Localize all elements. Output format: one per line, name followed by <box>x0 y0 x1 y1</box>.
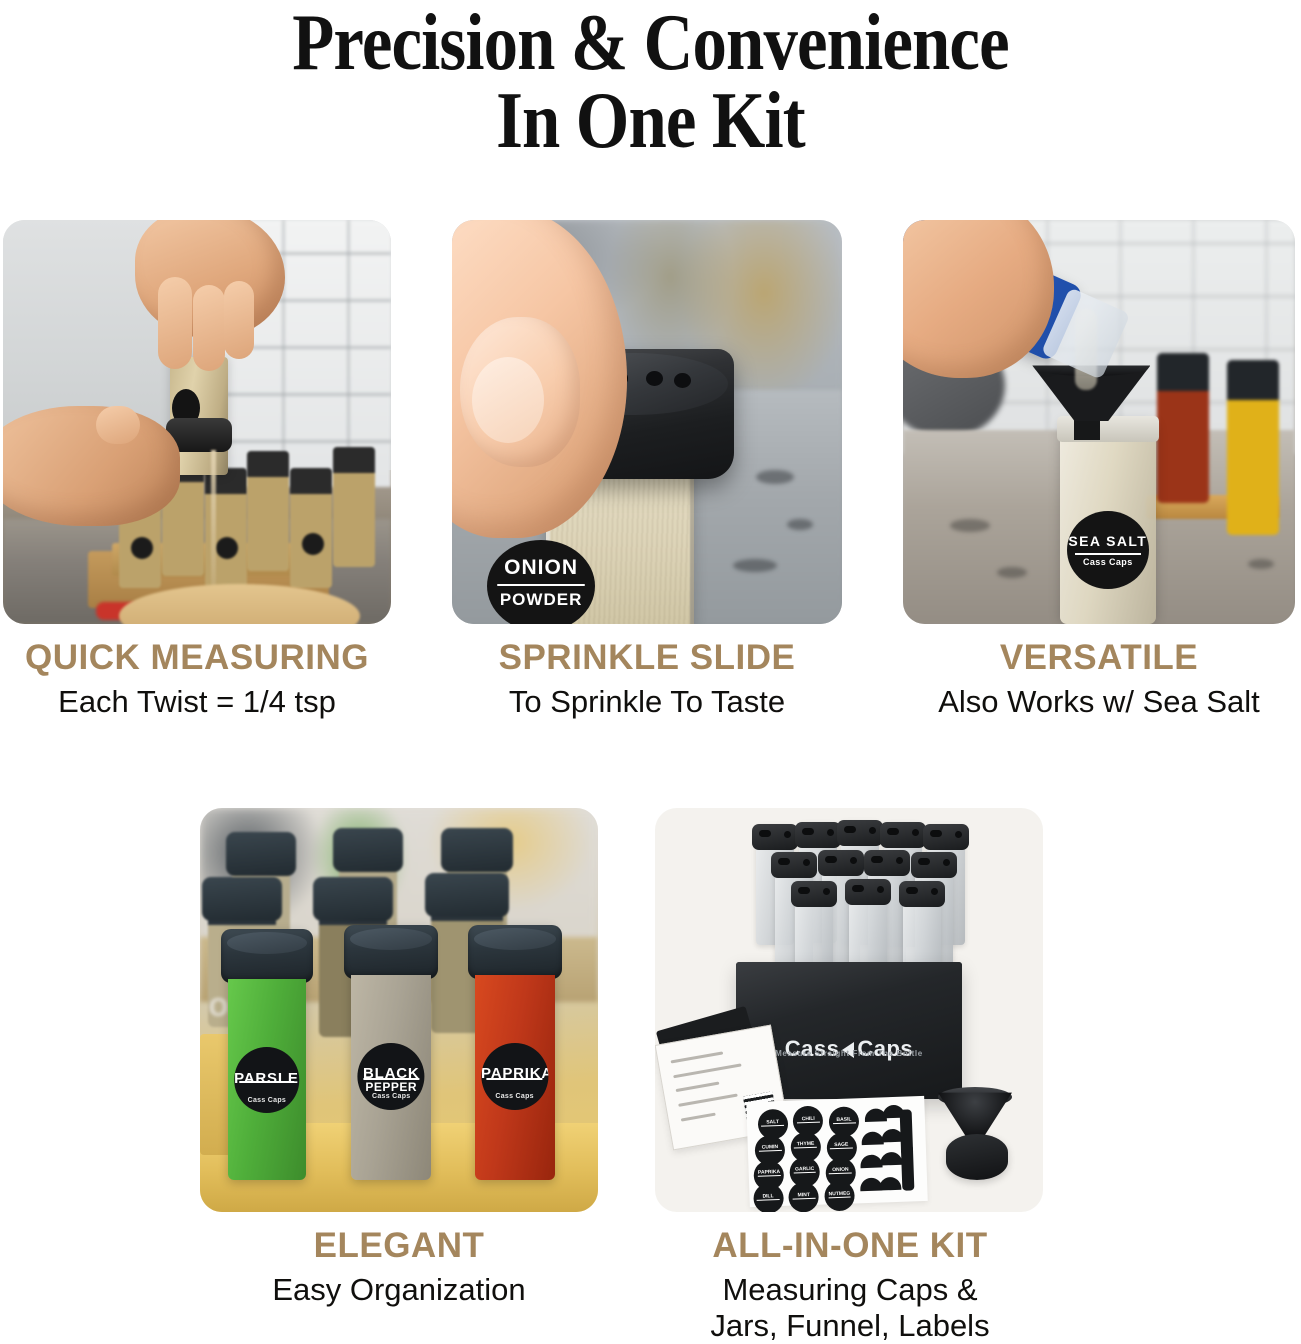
caption-title: ALL-IN-ONE KIT <box>650 1228 1050 1265</box>
jar-label-line-2: PEPPER <box>358 1080 425 1094</box>
jar-label-line-2: Cass Caps <box>1067 557 1149 567</box>
caption-subtitle: Easy Organization <box>195 1272 603 1308</box>
jar-label-sea-salt: SEA SALT Cass Caps <box>1067 511 1149 589</box>
page-title-line-2: In One Kit <box>91 82 1210 160</box>
jar-label-black-pepper: BLACK PEPPER Cass Caps <box>358 1043 425 1110</box>
jar-label-paprika: PAPRIKA Cass Caps <box>481 1043 548 1110</box>
page-title-line-1: Precision & Convenience <box>91 4 1210 82</box>
caption-title: ELEGANT <box>195 1228 603 1265</box>
page-title: Precision & Convenience In One Kit <box>91 4 1210 161</box>
caption-title: QUICK MEASURING <box>0 640 394 677</box>
photo-quick-measuring <box>3 220 391 624</box>
caption-all-in-one-kit: ALL-IN-ONE KIT Measuring Caps & Jars, Fu… <box>650 1228 1050 1344</box>
product-feature-page: Precision & Convenience In One Kit <box>0 0 1301 1341</box>
photo-versatile: SEA SALT Cass Caps <box>903 220 1295 624</box>
jar-label-line-1: PARSLEY <box>234 1070 300 1087</box>
jar-label-onion-powder: ONION POWDER <box>487 540 595 624</box>
caption-title: VERSATILE <box>899 640 1299 677</box>
jar-label-line-1: SEA SALT <box>1067 533 1149 549</box>
jar-label-line-2: POWDER <box>487 590 595 610</box>
photo-sprinkle-slide: ONION POWDER <box>452 220 842 624</box>
spare-cap <box>946 1134 1008 1180</box>
caption-quick-measuring: QUICK MEASURING Each Twist = 1/4 tsp <box>0 640 394 720</box>
feature-photo-all-in-one-kit: CassCaps Measure Straight From The Bottl… <box>655 808 1043 1212</box>
photo-elegant: os PARSLEY Cass Caps BLACK <box>200 808 598 1212</box>
caption-elegant: ELEGANT Easy Organization <box>195 1228 603 1308</box>
feature-photo-sprinkle-slide: ONION POWDER <box>452 220 842 624</box>
caption-subtitle-line-2: Jars, Funnel, Labels <box>650 1308 1050 1344</box>
caption-sprinkle-slide: SPRINKLE SLIDE To Sprinkle To Taste <box>448 640 846 720</box>
jar-label-brand: Cass Caps <box>481 1093 548 1100</box>
caption-subtitle: To Sprinkle To Taste <box>448 684 846 720</box>
jar-label-parsley: PARSLEY Cass Caps <box>234 1047 300 1113</box>
jar-label-brand: Cass Caps <box>358 1093 425 1100</box>
jar-label-line-1: PAPRIKA <box>481 1065 548 1082</box>
caption-title: SPRINKLE SLIDE <box>448 640 846 677</box>
caption-subtitle-line-1: Measuring Caps & <box>650 1272 1050 1308</box>
photo-all-in-one-kit: CassCaps Measure Straight From The Bottl… <box>655 808 1043 1212</box>
feature-photo-quick-measuring <box>3 220 391 624</box>
jar-label-line-1: ONION <box>487 556 595 580</box>
caption-versatile: VERSATILE Also Works w/ Sea Salt <box>899 640 1299 720</box>
caption-subtitle: Each Twist = 1/4 tsp <box>0 684 394 720</box>
feature-photo-versatile: SEA SALT Cass Caps <box>903 220 1295 624</box>
caption-subtitle: Also Works w/ Sea Salt <box>899 684 1299 720</box>
feature-photo-elegant: os PARSLEY Cass Caps BLACK <box>200 808 598 1212</box>
label-sticker-sheet: SALT CHILI BASIL CUMIN THYME SAGE PAPRIK… <box>746 1096 928 1207</box>
jar-label-brand: Cass Caps <box>234 1097 300 1104</box>
